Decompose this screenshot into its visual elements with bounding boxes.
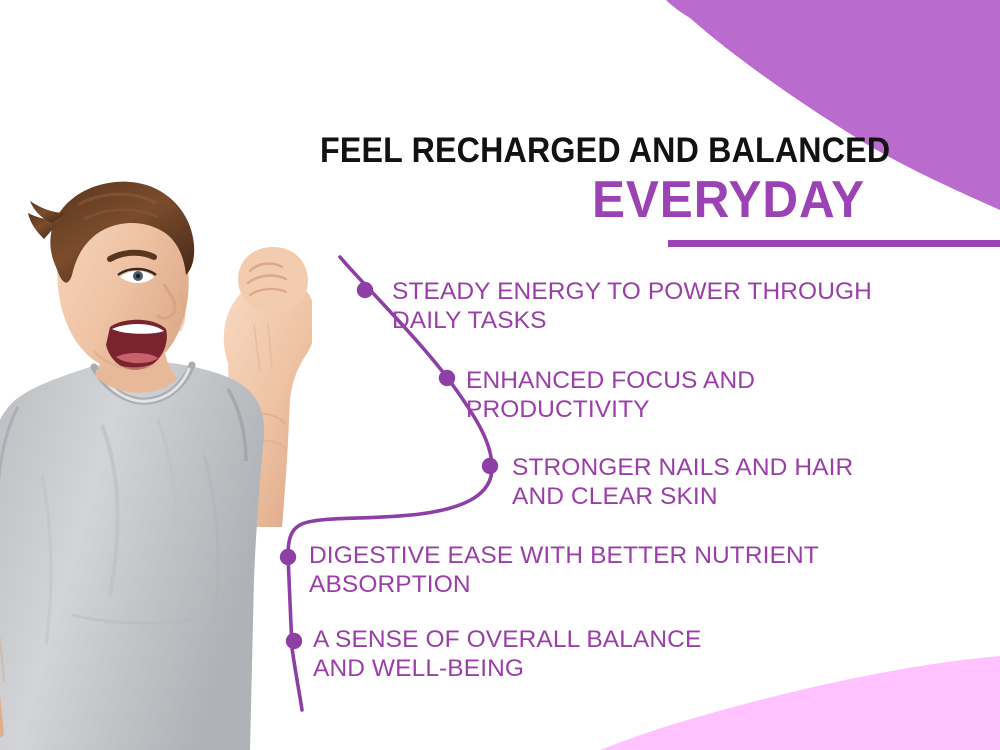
benefit-item-digestive-ease: DIGESTIVE EASE WITH BETTER NUTRIENT ABSO… [309,541,819,599]
promo-graphic-canvas: FEEL RECHARGED AND BALANCED EVERYDAY STE… [0,0,1000,750]
benefit-dot-2 [439,370,455,386]
benefit-item-enhanced-focus: ENHANCED FOCUS AND PRODUCTIVITY [466,366,755,424]
benefit-dot-4 [280,549,296,565]
benefit-item-overall-balance: A SENSE OF OVERALL BALANCE AND WELL-BEIN… [313,625,701,683]
benefit-item-stronger-nails-hair: STRONGER NAILS AND HAIR AND CLEAR SKIN [512,453,853,511]
benefit-dot-5 [286,633,302,649]
benefit-item-steady-energy: STEADY ENERGY TO POWER THROUGH DAILY TAS… [392,277,872,335]
benefit-dot-1 [357,282,373,298]
benefit-dot-3 [482,458,498,474]
